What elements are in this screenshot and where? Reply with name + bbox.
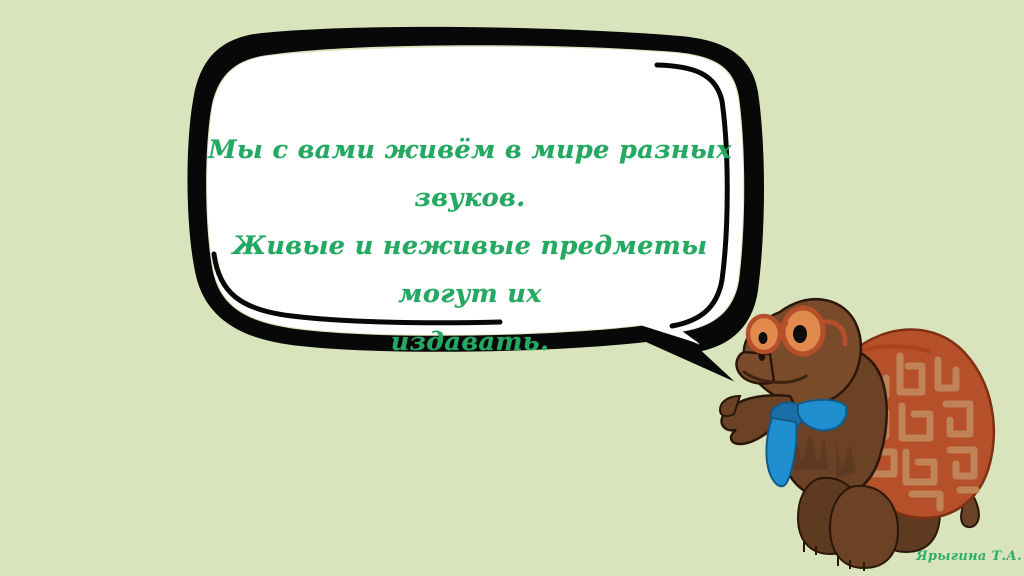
turtle-front-leg-front (830, 486, 898, 568)
turtle-left-eye (759, 332, 768, 344)
slide-artwork (0, 0, 1024, 576)
turtle-right-eye (793, 325, 807, 343)
speech-bubble-fill (207, 47, 743, 344)
slide-root: Мы с вами живём в мире разных звуков. Жи… (0, 0, 1024, 576)
speech-bubble (187, 27, 764, 382)
